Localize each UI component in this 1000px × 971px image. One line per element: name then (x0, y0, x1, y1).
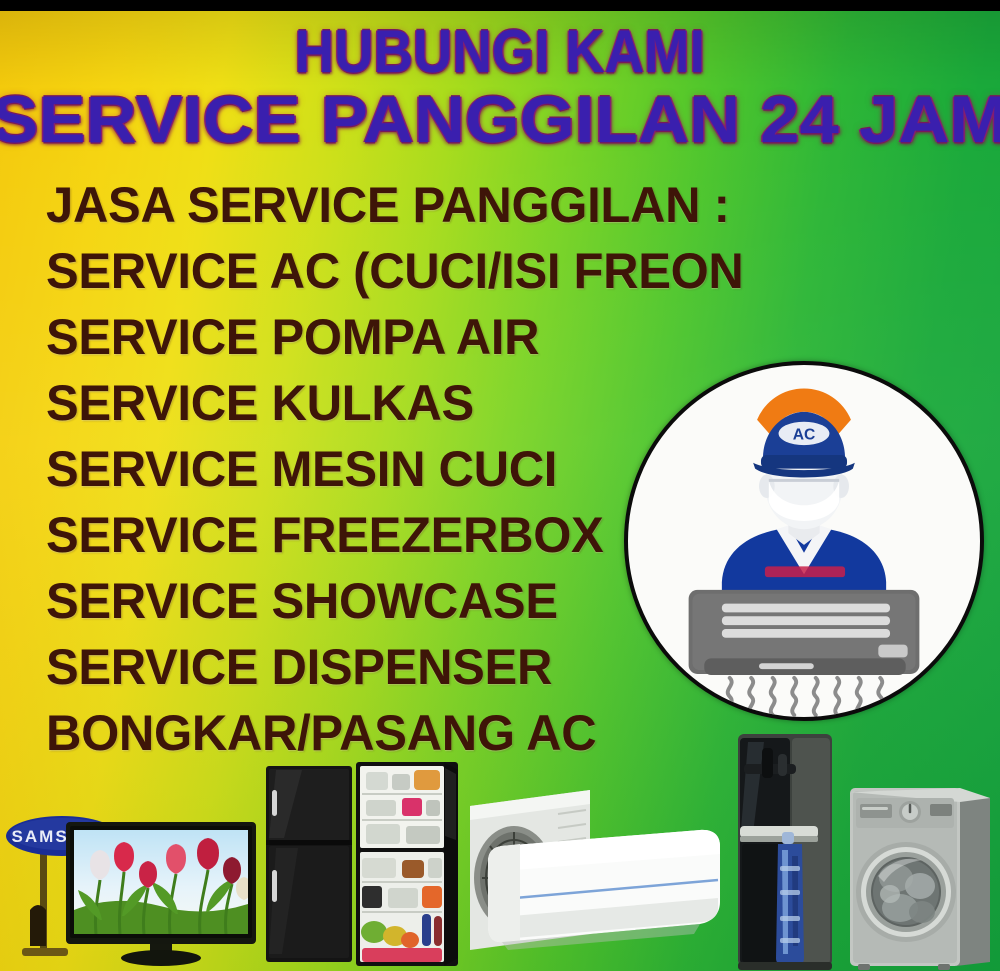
samsung-tv-display: SAMSUNG (4, 800, 260, 971)
air-conditioner-icon (689, 590, 920, 675)
refrigerator-closed (266, 766, 352, 962)
poster-canvas: HUBUNGI KAMI SERVICE PANGGILAN 24 JAM JA… (0, 0, 1000, 971)
airflow-waves-icon (728, 678, 883, 715)
cap-logo-text: AC (793, 426, 816, 443)
technician-badge: AC (624, 361, 984, 721)
service-item-4: SERVICE MESIN CUCI (46, 436, 673, 502)
service-item-8: BONGKAR/PASANG AC (46, 700, 673, 766)
service-item-6: SERVICE SHOWCASE (46, 568, 673, 634)
service-item-2: SERVICE POMPA AIR (46, 304, 673, 370)
ac-indoor-unit (488, 830, 720, 950)
service-item-0: JASA SERVICE PANGGILAN : (46, 172, 673, 238)
refrigerator-open (356, 762, 458, 966)
drum-contents (873, 859, 939, 925)
headline-line-1: HUBUNGI KAMI (50, 22, 950, 82)
water-dispenser (726, 730, 846, 971)
headline-line-2: SERVICE PANGGILAN 24 JAM (0, 86, 1000, 152)
split-air-conditioner (462, 784, 730, 971)
top-letterbox-bar (0, 0, 1000, 11)
service-item-1: SERVICE AC (CUCI/ISI FREON (46, 238, 673, 304)
service-list: JASA SERVICE PANGGILAN : SERVICE AC (CUC… (46, 172, 686, 766)
service-item-7: SERVICE DISPENSER (46, 634, 673, 700)
service-item-3: SERVICE KULKAS (46, 370, 673, 436)
technician-icon: AC (722, 412, 886, 592)
service-item-5: SERVICE FREEZERBOX (46, 502, 673, 568)
washing-machine (840, 780, 998, 971)
refrigerator-pair (262, 760, 462, 971)
headline-block: HUBUNGI KAMI SERVICE PANGGILAN 24 JAM (0, 22, 1000, 152)
water-bottle (776, 832, 804, 966)
